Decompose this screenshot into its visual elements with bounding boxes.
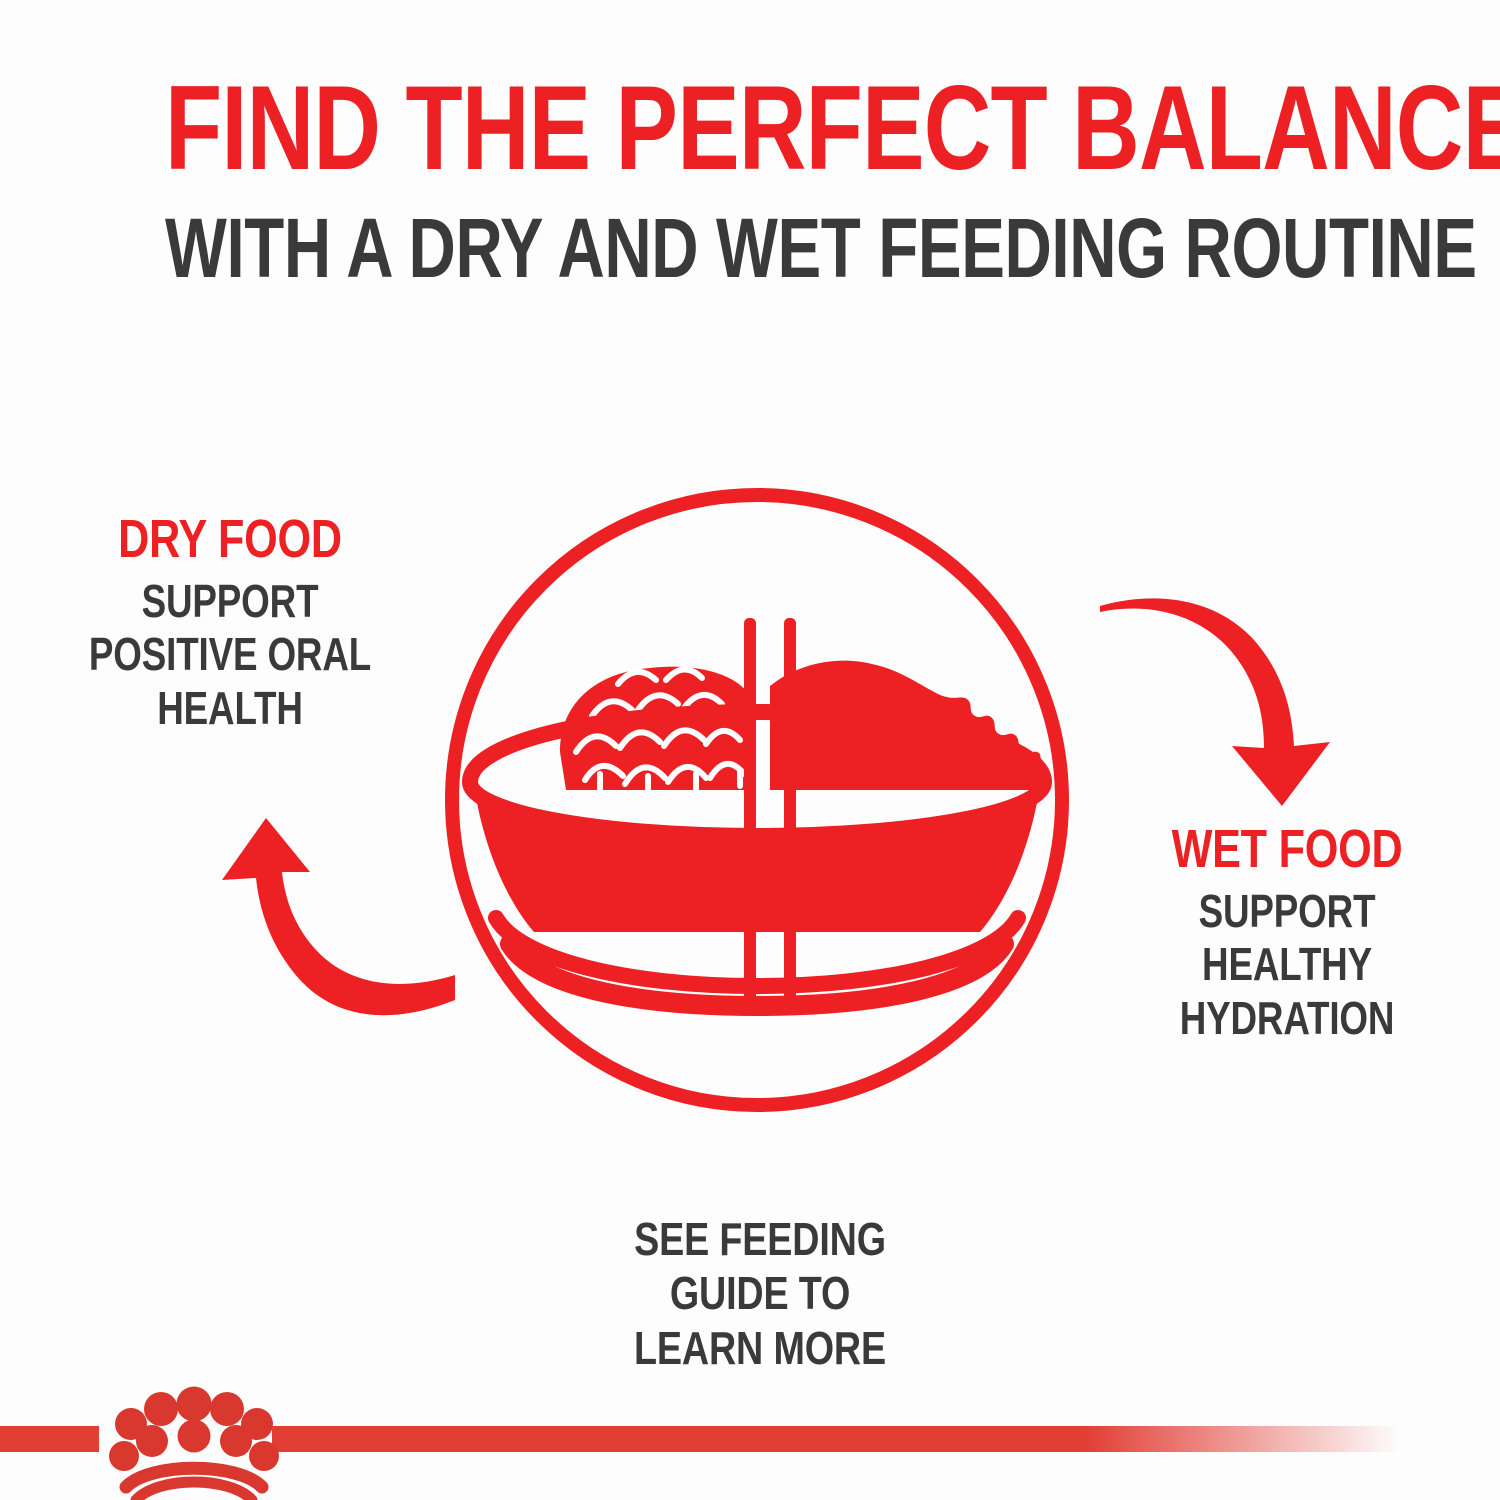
callout-wet-food-body: SUPPORT HEALTHY HYDRATION [1123,885,1451,1045]
bowl-divider-left-bar [744,618,756,1008]
curved-arrow-down-right [1100,598,1330,806]
infographic-canvas: FIND THE PERFECT BALANCE WITH A DRY AND … [0,0,1500,1500]
bowl-right-wet-half [770,661,1046,790]
curved-arrow-up-left [222,818,455,1015]
bowl-rim [470,712,1044,836]
cta-line-1: SEE FEEDING [506,1212,1014,1266]
callout-wet-food: WET FOOD SUPPORT HEALTHY HYDRATION [1082,822,1492,1045]
bowl-left-dry-half [560,667,752,792]
callout-dry-food: DRY FOOD SUPPORT POSITIVE ORAL HEALTH [25,512,435,735]
callout-wet-food-title: WET FOOD [1123,822,1451,877]
crown-logo [109,1387,279,1500]
cta-see-feeding-guide[interactable]: SEE FEEDING GUIDE TO LEARN MORE [450,1212,1070,1375]
page-subtitle: WITH A DRY AND WET FEEDING ROUTINE [165,206,1335,290]
page-title: FIND THE PERFECT BALANCE [165,68,1335,188]
callout-dry-food-body: SUPPORT POSITIVE ORAL HEALTH [66,575,394,735]
bowl-base-lower [510,944,1004,1006]
cta-line-2: GUIDE TO [506,1266,1014,1320]
bowl-base-upper [496,918,1018,986]
kibble-mound [560,667,752,792]
callout-wet-food-line-2: HYDRATION [1123,992,1451,1045]
cta-line-3: LEARN MORE [506,1321,1014,1375]
callout-dry-food-line-1: SUPPORT [66,575,394,628]
callout-dry-food-line-3: HEALTH [66,682,394,735]
bowl-body [474,786,1040,932]
bowl-divider-right-bar [784,618,796,1008]
red-outline-circle [452,495,1062,1105]
callout-dry-food-line-2: POSITIVE ORAL [66,628,394,681]
callout-wet-food-line-1: SUPPORT HEALTHY [1123,885,1451,992]
split-pet-food-bowl-icon [470,618,1046,1008]
footer-bar-left [0,1426,99,1452]
footer-bar-right [272,1426,1400,1452]
callout-dry-food-title: DRY FOOD [66,512,394,567]
header-block: FIND THE PERFECT BALANCE WITH A DRY AND … [0,68,1500,290]
